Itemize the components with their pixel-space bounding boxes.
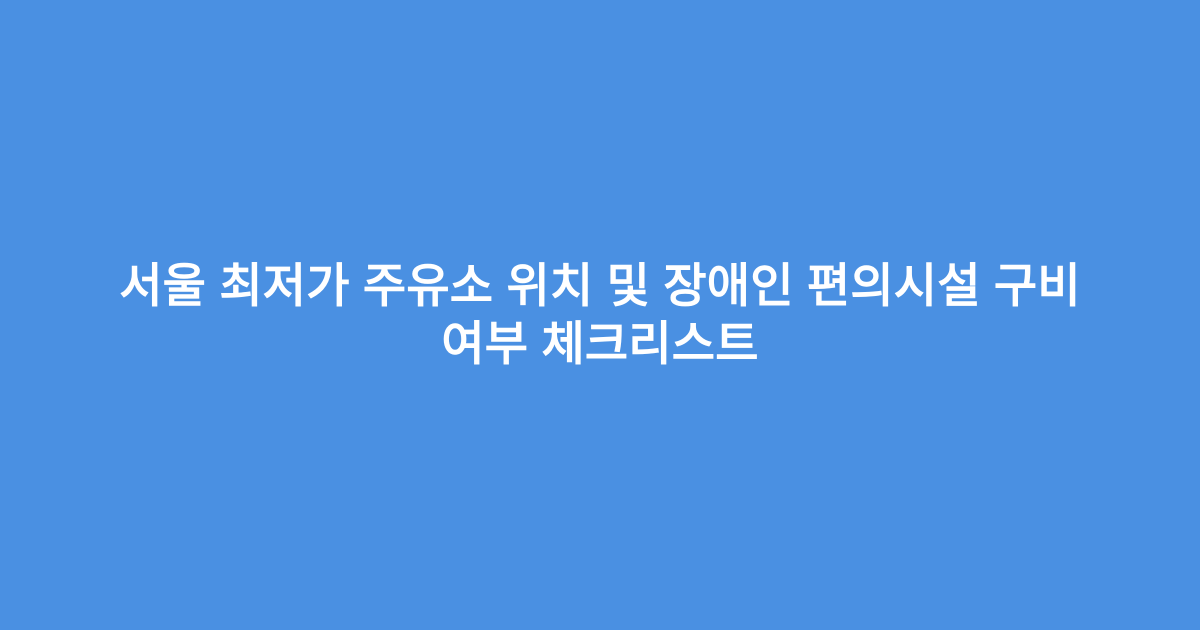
page-title: 서울 최저가 주유소 위치 및 장애인 편의시설 구비 여부 체크리스트	[76, 257, 1124, 373]
og-card-canvas: 서울 최저가 주유소 위치 및 장애인 편의시설 구비 여부 체크리스트	[0, 0, 1200, 630]
title-block: 서울 최저가 주유소 위치 및 장애인 편의시설 구비 여부 체크리스트	[76, 257, 1124, 373]
